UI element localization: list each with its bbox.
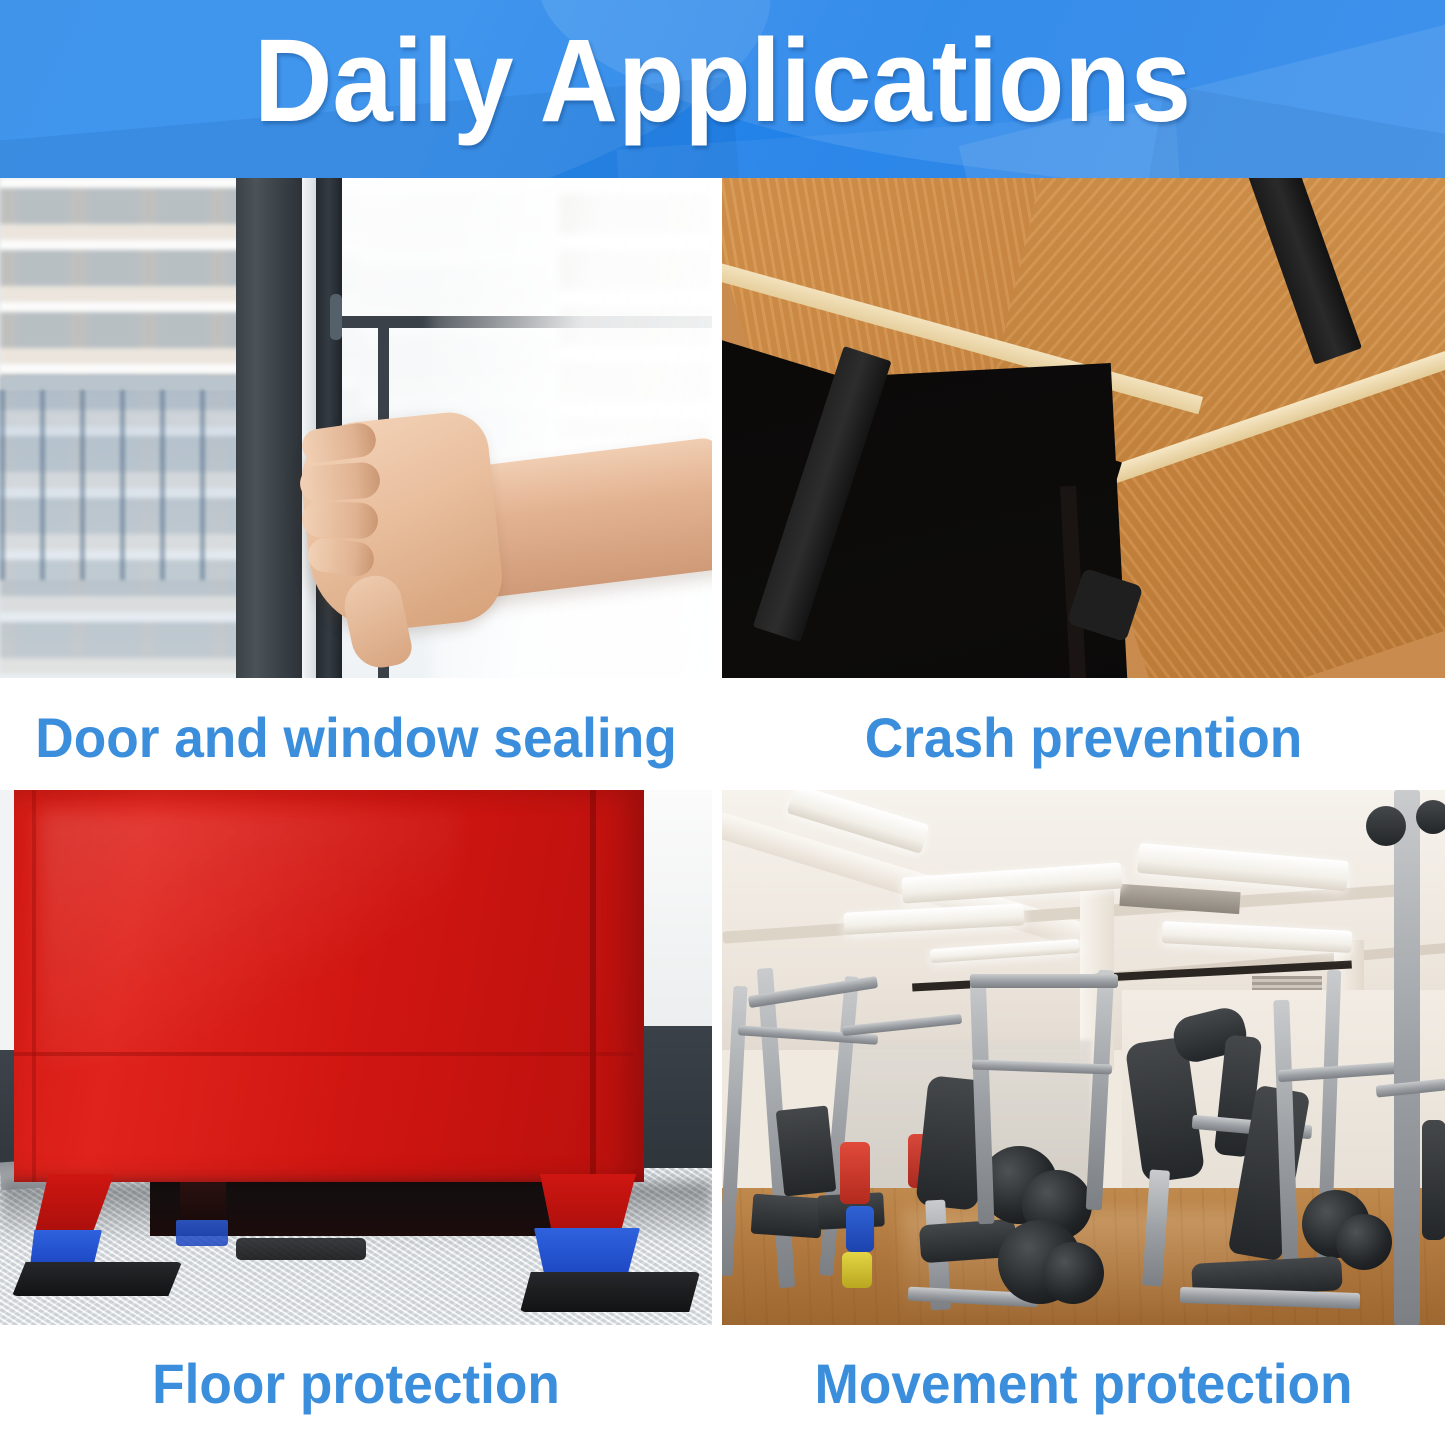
blue-foot-cap [176, 1220, 228, 1246]
photo-floor-protection [0, 790, 712, 1325]
blue-foot-cap [534, 1228, 640, 1276]
photo-movement-protection [722, 790, 1445, 1325]
photo-image [722, 178, 1445, 678]
window-frame [236, 178, 302, 678]
finger [299, 461, 381, 502]
caption-floor-protection: Floor protection [18, 1352, 694, 1416]
header-banner: Daily Applications [0, 0, 1445, 178]
bench-pad [776, 1106, 837, 1197]
finger [301, 501, 378, 540]
caption-crash-prevention: Crash prevention [740, 706, 1427, 770]
blue-foot-cap [30, 1230, 102, 1266]
photo-image [0, 790, 712, 1325]
cable-pulley [1366, 806, 1406, 846]
photo-image [722, 790, 1445, 1325]
weight-plate-blue [846, 1206, 874, 1252]
photo-crash-prevention [722, 178, 1445, 678]
photo-image [0, 178, 712, 678]
weight-plate-black [1042, 1242, 1104, 1304]
cabinet-edge-seam [590, 790, 596, 1182]
cable-attachment [1422, 1120, 1445, 1240]
cabinet-edge-seam [32, 790, 36, 1182]
weight-plate-black [1336, 1214, 1392, 1270]
gym-machine-crossbar [970, 974, 1118, 988]
cabinet-gloss-highlight [40, 810, 460, 1060]
window-handle [330, 294, 342, 340]
black-rubber-pad [520, 1272, 700, 1312]
weight-plate-red [840, 1142, 870, 1204]
cabinet-panel-line [14, 1052, 634, 1056]
page-title: Daily Applications [58, 6, 1387, 156]
photo-door-window-sealing [0, 178, 712, 678]
caption-movement-protection: Movement protection [740, 1352, 1427, 1416]
window-frame-highlight [302, 178, 316, 678]
bench-pad [751, 1194, 824, 1239]
infographic-page: Daily Applications [0, 0, 1445, 1445]
caption-door-window-sealing: Door and window sealing [18, 706, 694, 770]
black-rubber-pad [12, 1262, 182, 1296]
cable-pulley [1416, 800, 1445, 834]
black-rubber-pad [236, 1238, 366, 1260]
cable-machine-column [1394, 790, 1420, 1325]
weight-plate-yellow [842, 1252, 872, 1288]
